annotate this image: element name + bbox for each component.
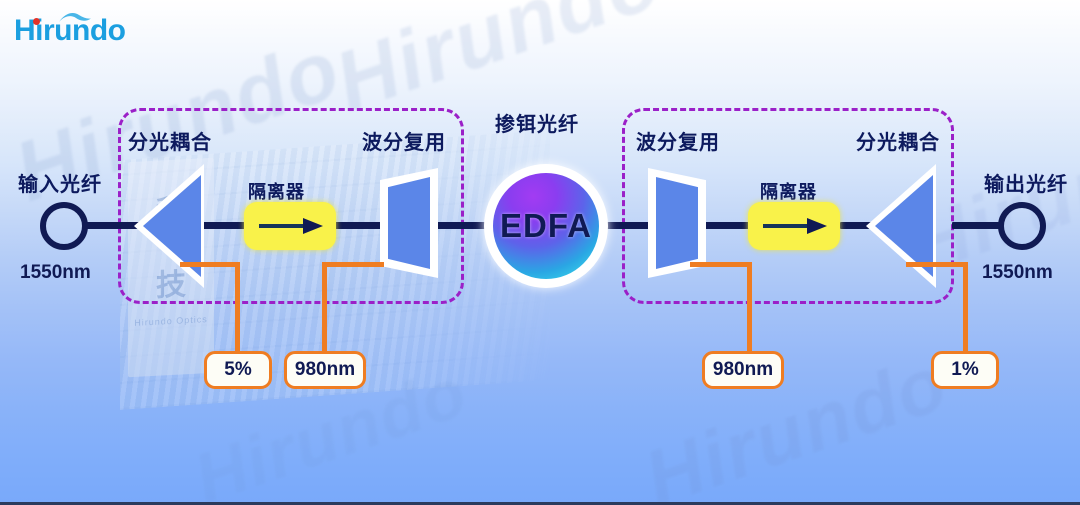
tag-1-percent-text: 1% <box>951 359 978 381</box>
erbium-doped-fiber-label: 掺铒光纤 <box>495 108 579 137</box>
background-sign-caption: Hirundo Optics <box>128 314 214 329</box>
tag-1-percent: 1% <box>931 351 999 389</box>
watermark-text: Hirundo <box>634 337 960 505</box>
tag-left-980nm: 980nm <box>284 351 366 389</box>
left-isolator-shape <box>244 202 336 250</box>
tag-right-980nm-text: 980nm <box>713 359 773 381</box>
input-wavelength-label: 1550nm <box>20 262 91 284</box>
output-fiber-label: 输出光纤 <box>984 168 1068 197</box>
left-wdm-label: 波分复用 <box>362 126 446 155</box>
tag-right-980nm: 980nm <box>702 351 784 389</box>
connector-1pct-horizontal <box>906 262 968 267</box>
right-wdm-label: 波分复用 <box>636 126 720 155</box>
connector-1pct-vertical <box>963 262 968 354</box>
output-wavelength-label: 1550nm <box>982 262 1053 284</box>
edfa-core: EDFA <box>493 173 599 279</box>
right-isolator-shape <box>748 202 840 250</box>
right-splitter-label: 分光耦合 <box>856 126 940 155</box>
edfa-module: EDFA <box>484 164 608 288</box>
swallow-bird-icon <box>58 11 92 25</box>
right-isolator-label: 隔离器 <box>760 178 817 204</box>
output-fiber-connector <box>998 202 1046 250</box>
fiber-segment-output <box>952 222 1000 229</box>
tag-left-980nm-text: 980nm <box>295 359 355 381</box>
fiber-segment-left-c <box>430 222 488 229</box>
input-fiber-label: 输入光纤 <box>18 168 102 197</box>
edfa-core-text: EDFA <box>500 207 592 245</box>
connector-5pct-vertical <box>235 262 240 354</box>
connector-5pct-horizontal <box>180 262 240 267</box>
left-isolator-label: 隔离器 <box>248 178 305 204</box>
left-splitter-label: 分光耦合 <box>128 126 212 155</box>
tag-5-percent: 5% <box>204 351 272 389</box>
input-fiber-connector <box>40 202 88 250</box>
connector-right-980-horizontal <box>690 262 752 267</box>
connector-right-980-vertical <box>747 262 752 354</box>
tag-5-percent-text: 5% <box>224 359 251 381</box>
connector-left-980-horizontal <box>322 262 384 267</box>
logo-i-dot-icon <box>33 18 40 25</box>
arrow-right-icon <box>761 215 827 237</box>
brand-logo: Hirundo <box>14 14 125 48</box>
connector-left-980-vertical <box>322 262 327 354</box>
diagram-canvas: 科 技 Hirundo Optics Hirundo Hirundo Hirun… <box>0 0 1080 505</box>
arrow-right-icon <box>257 215 323 237</box>
